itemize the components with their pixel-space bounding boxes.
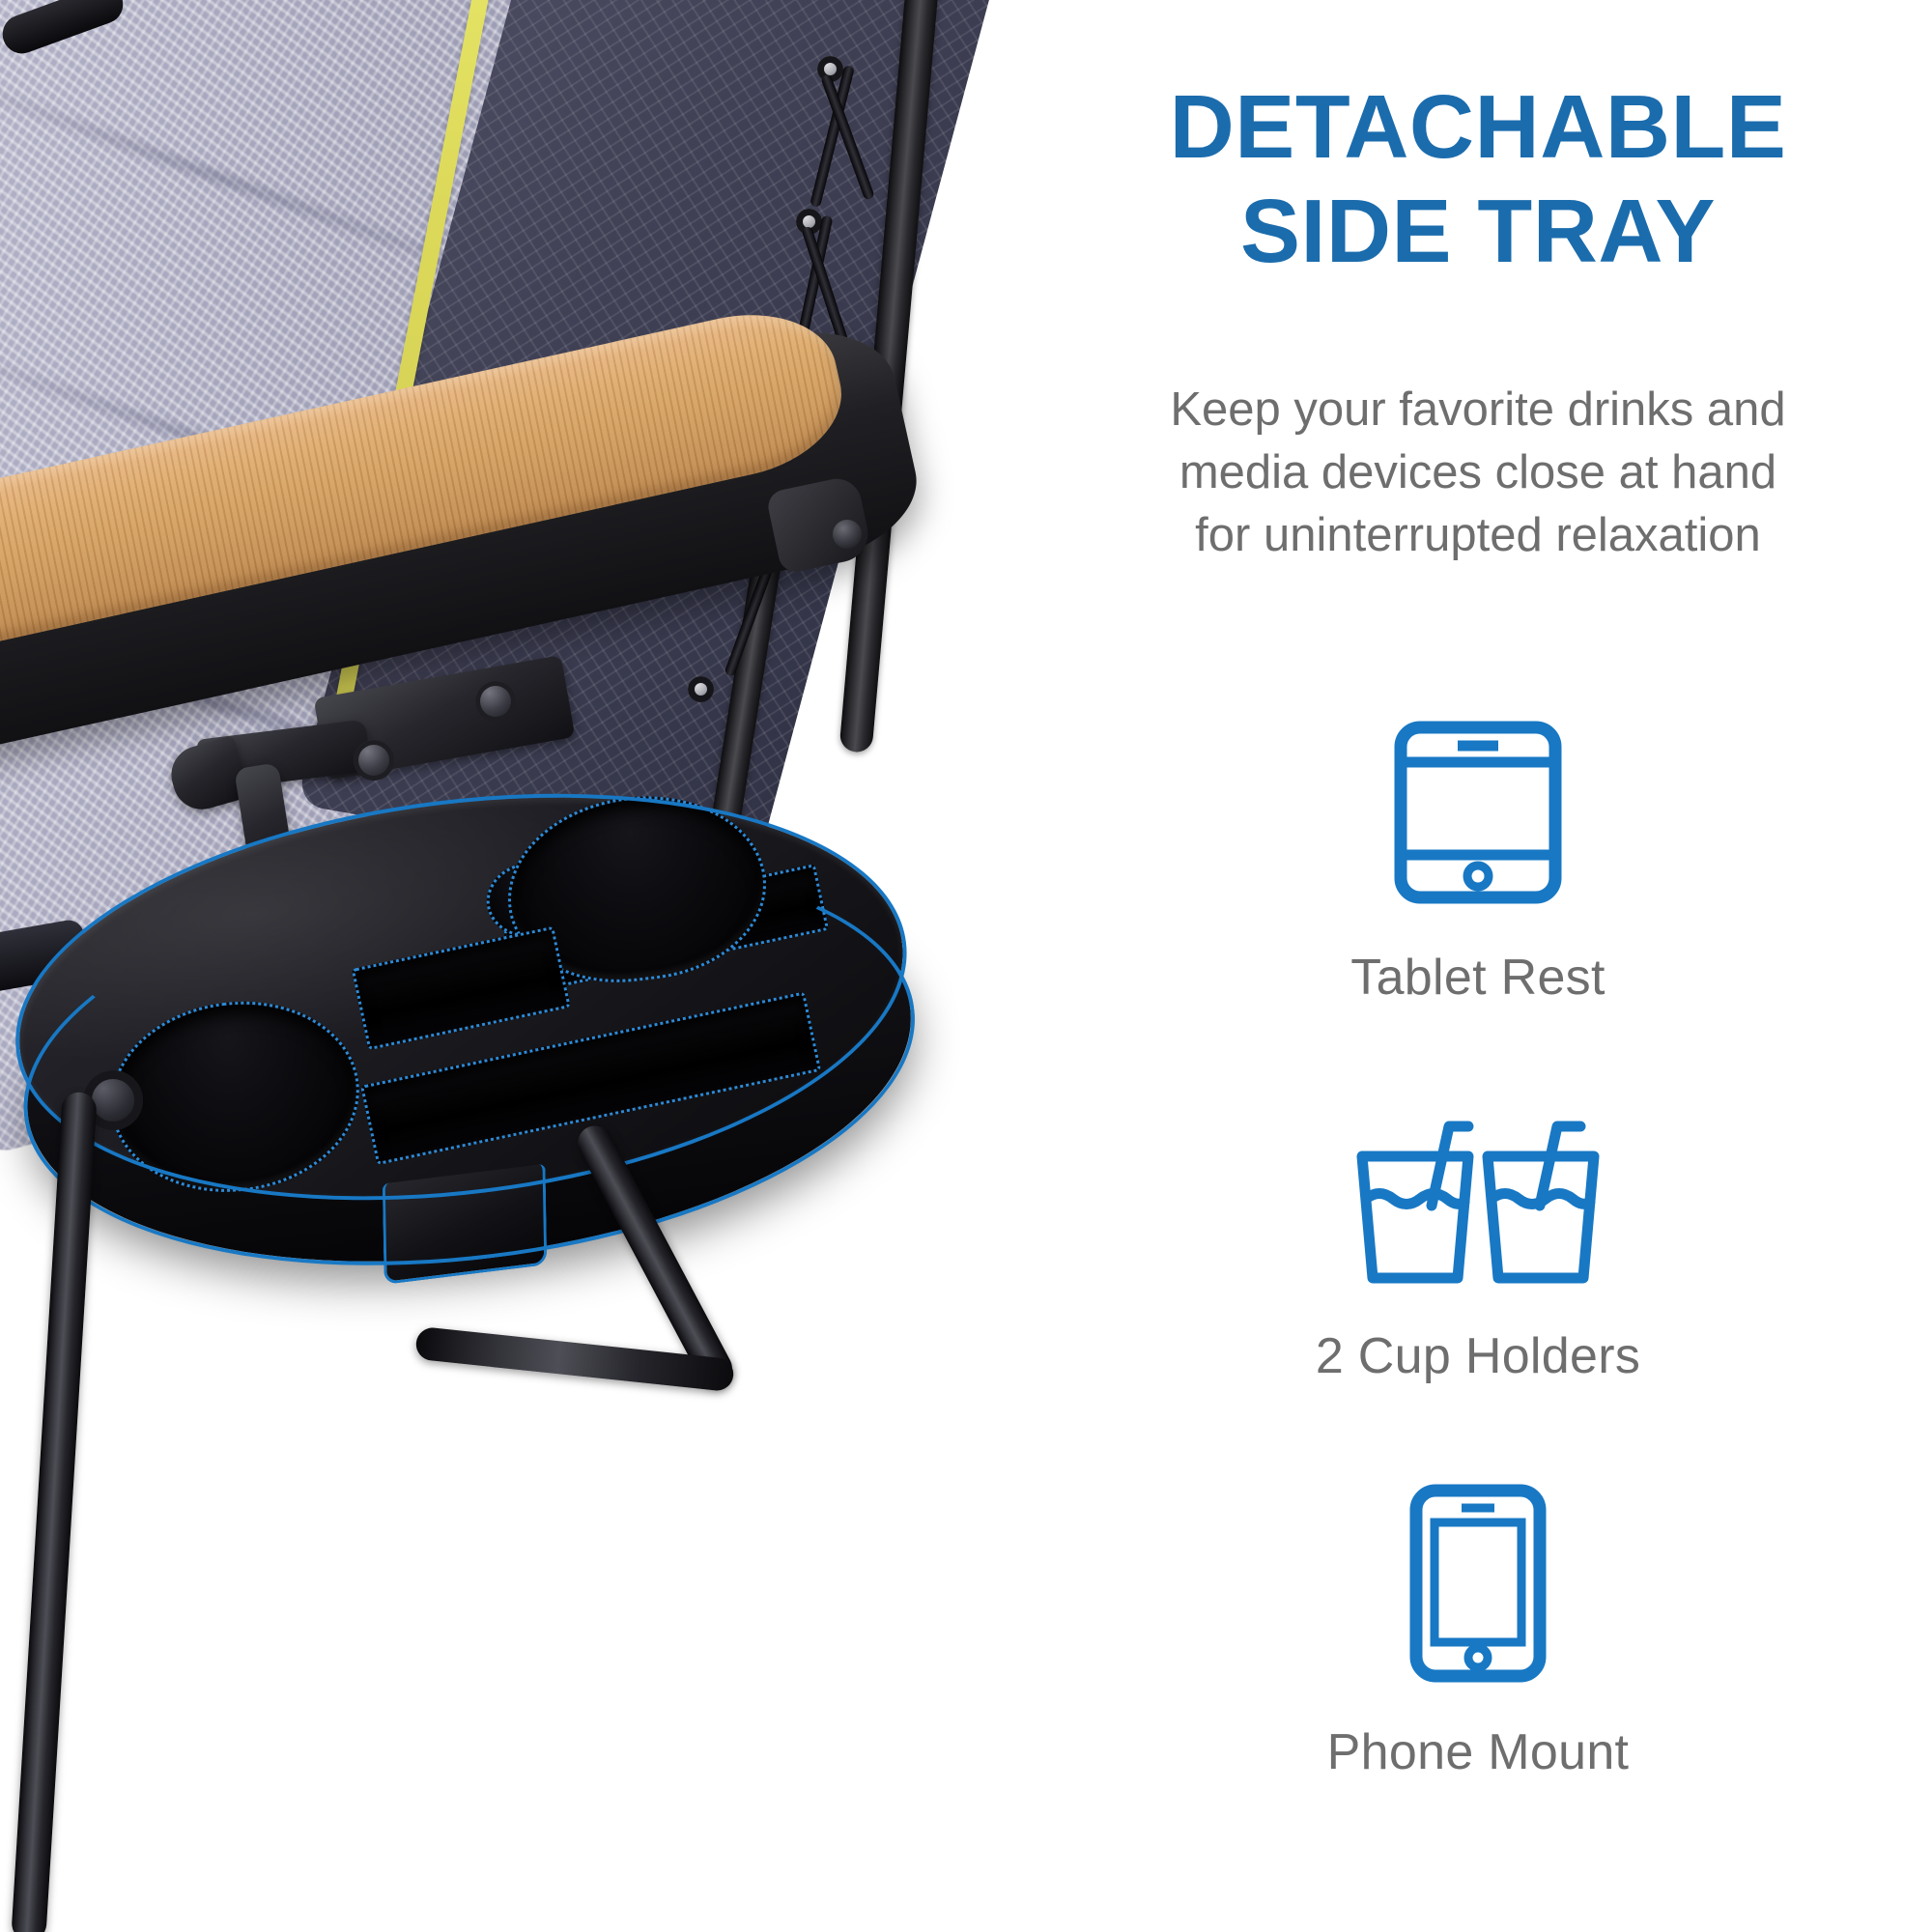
subheadline-line-2: media devices close at hand [1049,441,1907,504]
feature-label-tablet-rest: Tablet Rest [1024,949,1932,1007]
tray-underside-tab [383,1164,548,1285]
feature-label-phone-mount: Phone Mount [1024,1723,1932,1781]
headline-line-2: SIDE TRAY [1024,180,1932,284]
subheadline-line-1: Keep your favorite drinks and [1049,379,1907,441]
grommet [688,676,714,702]
feature-phone-mount: Phone Mount [1024,1459,1932,1781]
tablet-icon [1024,692,1932,933]
two-cups-with-straws-icon [1024,1080,1932,1312]
product-photo [0,0,1024,1932]
armrest-knob [833,520,862,549]
detachable-side-tray [0,706,976,1361]
mounting-bolt [475,681,516,722]
feature-label-cup-holders: 2 Cup Holders [1024,1327,1932,1385]
marketing-image: DETACHABLE SIDE TRAY Keep your favorite … [0,0,1932,1932]
subheadline: Keep your favorite drinks and media devi… [1049,379,1907,567]
feature-cup-holders: 2 Cup Holders [1024,1080,1932,1385]
marketing-text-panel: DETACHABLE SIDE TRAY Keep your favorite … [1024,0,1932,1932]
page-title: DETACHABLE SIDE TRAY [1024,75,1932,284]
phone-icon [1024,1459,1932,1708]
subheadline-line-3: for uninterrupted relaxation [1049,504,1907,567]
feature-tablet-rest: Tablet Rest [1024,692,1932,1007]
headline-line-1: DETACHABLE [1024,75,1932,180]
